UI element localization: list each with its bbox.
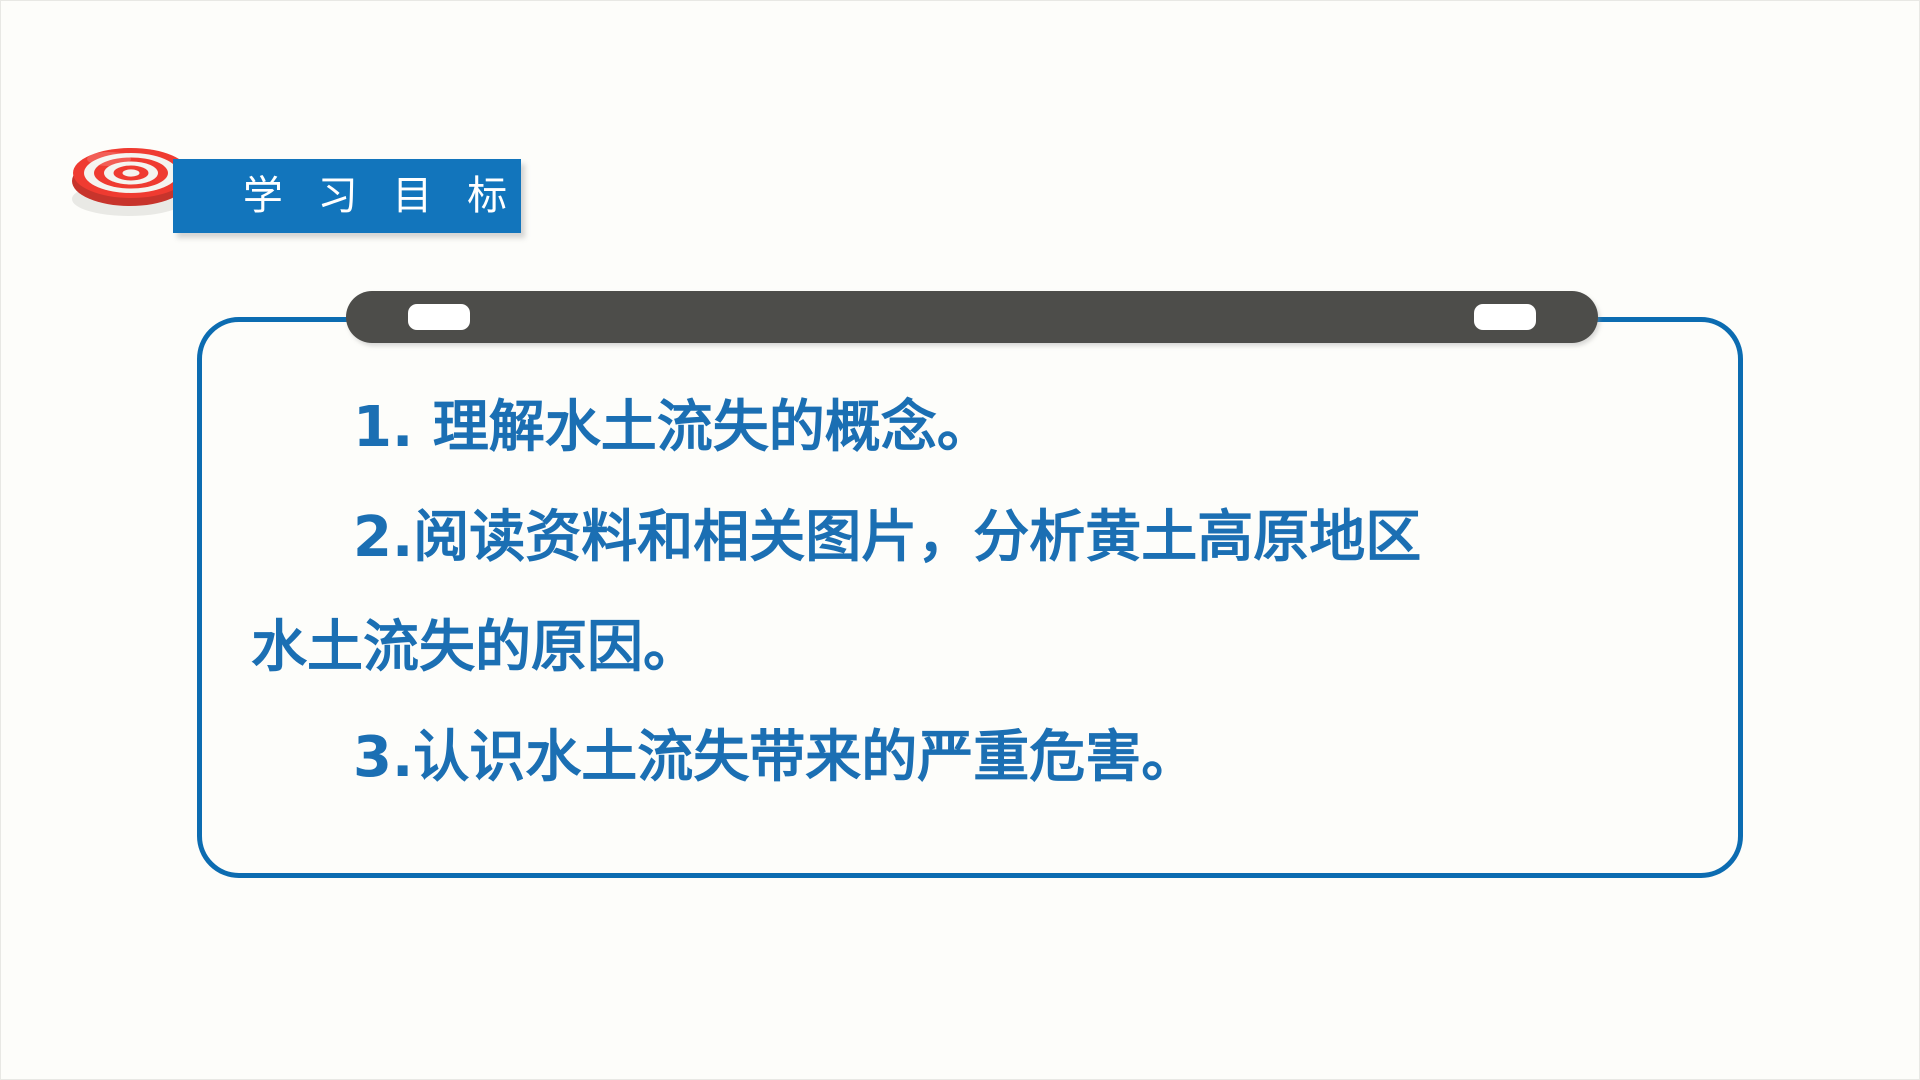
target-bullseye-center [123,169,140,176]
target-ring-4 [104,162,158,185]
objective-line-2: 2.阅读资料和相关图片，分析黄土高原地区 [251,483,1713,593]
target-highlight [87,152,131,166]
frame-top-bar [346,291,1598,343]
target-ring-1 [73,148,189,198]
objective-line-4: 3.认识水土流失带来的严重危害。 [251,703,1713,813]
slide-canvas: 学 习 目 标 1. 理解水土流失的概念。 2.阅读资料和相关图片，分析黄土高原… [0,0,1920,1080]
objective-line-1: 1. 理解水土流失的概念。 [251,373,1713,483]
section-title-banner: 学 习 目 标 [173,159,521,233]
objective-line-3: 水土流失的原因。 [251,593,1713,703]
target-ring-3 [94,158,168,189]
target-disc-side [72,156,188,206]
target-ring-2 [84,153,178,193]
topbar-notch-right [1474,304,1536,330]
target-ring-5 [114,166,149,181]
topbar-notch-left [408,304,470,330]
section-title-text: 学 习 目 标 [232,176,518,216]
target-ground-shadow [72,182,186,216]
objectives-list: 1. 理解水土流失的概念。 2.阅读资料和相关图片，分析黄土高原地区 水土流失的… [197,373,1743,813]
